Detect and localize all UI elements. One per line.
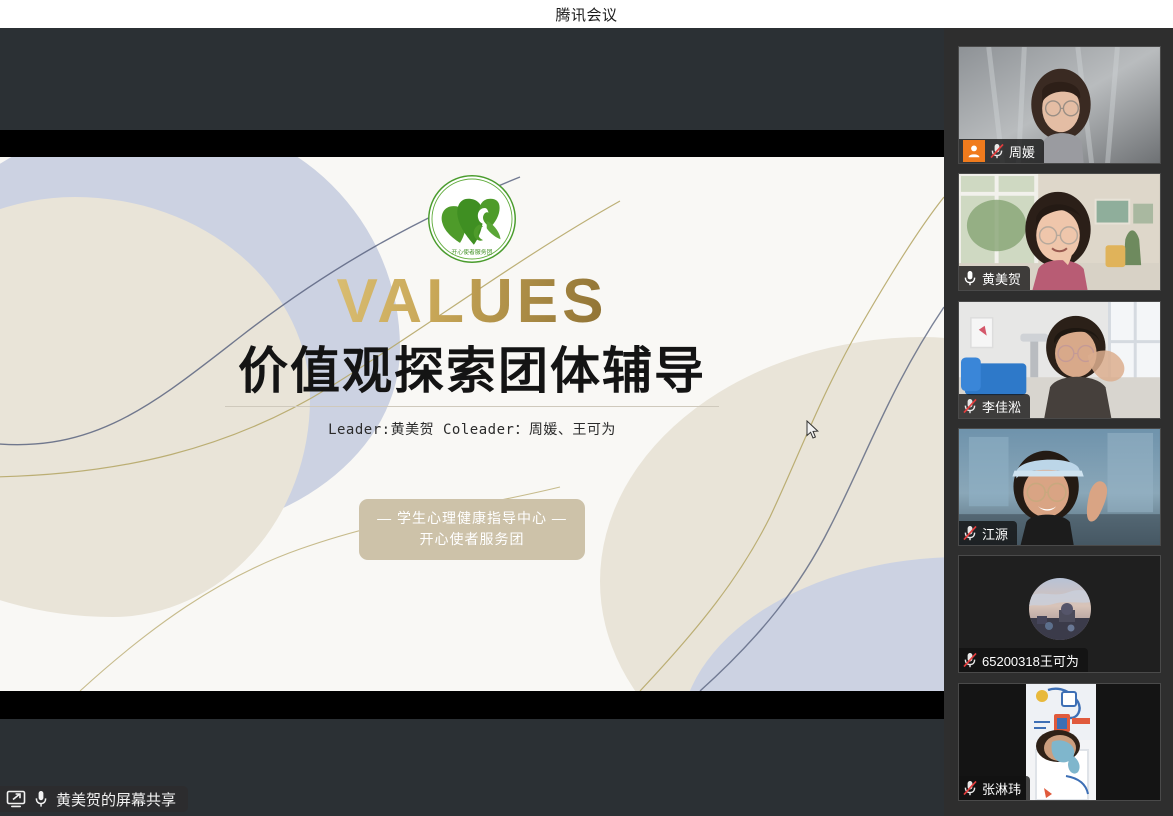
- participant-name-2: 李佳淞: [982, 397, 1021, 416]
- organization-badge-line1: — 学生心理健康指导中心 —: [377, 508, 567, 529]
- participant-strip-4: 65200318王可为: [959, 648, 1088, 672]
- screen-share-badge: 黄美贺的屏幕共享: [0, 786, 188, 812]
- participant-tile-2[interactable]: 李佳淞: [958, 301, 1161, 419]
- microphone-muted-icon: [963, 652, 977, 668]
- window-title: 腾讯会议: [555, 4, 617, 25]
- participant-tile-4[interactable]: 65200318王可为: [958, 555, 1161, 673]
- meeting-window: 腾讯会议: [0, 0, 1173, 816]
- letterbox-top: [0, 130, 944, 157]
- participant-name-3: 江源: [982, 524, 1008, 543]
- participant-name-5: 张淋玮: [982, 779, 1021, 798]
- participant-tile-0[interactable]: 周媛: [958, 46, 1161, 164]
- presentation-slide: 开心使者服务团 VALUES 价值观探索团体辅导 Leader:黄美贺 Cole…: [0, 157, 944, 691]
- organization-badge-line2: 开心使者服务团: [377, 529, 567, 550]
- participant-strip-1: 黄美贺: [959, 266, 1030, 290]
- slide-content: 开心使者服务团 VALUES 价值观探索团体辅导 Leader:黄美贺 Cole…: [0, 157, 944, 691]
- avatar: [1029, 578, 1091, 640]
- participant-strip-5: 张淋玮: [959, 776, 1030, 800]
- microphone-muted-icon: [963, 525, 977, 541]
- microphone-icon: [34, 790, 48, 808]
- slide-main-title: 价值观探索团体辅导: [238, 345, 706, 398]
- participant-strip-0: 周媛: [959, 139, 1044, 163]
- participant-strip-3: 江源: [959, 521, 1017, 545]
- participant-tile-5[interactable]: 张淋玮: [958, 683, 1161, 801]
- participant-strip-2: 李佳淞: [959, 394, 1030, 418]
- letterbox-bottom: [0, 691, 944, 719]
- participant-tile-1[interactable]: 黄美贺: [958, 173, 1161, 291]
- participant-video-portrait-5: [1026, 684, 1096, 801]
- participants-panel[interactable]: 周媛: [944, 28, 1173, 816]
- shared-screen-stage[interactable]: 开心使者服务团 VALUES 价值观探索团体辅导 Leader:黄美贺 Cole…: [0, 28, 944, 816]
- participant-name-0: 周媛: [1009, 142, 1035, 161]
- microphone-muted-icon: [963, 398, 977, 414]
- center-logo: 开心使者服务团: [426, 173, 518, 265]
- slide-values-heading: VALUES: [337, 271, 608, 333]
- title-divider: [225, 406, 719, 407]
- window-title-bar: 腾讯会议: [0, 0, 1173, 28]
- psychology-center-logo-icon: 开心使者服务团: [426, 173, 518, 265]
- screen-share-label: 黄美贺的屏幕共享: [56, 789, 176, 810]
- screen-share-icon: [6, 790, 26, 808]
- svg-text:开心使者服务团: 开心使者服务团: [451, 248, 492, 256]
- participant-name-1: 黄美贺: [982, 269, 1021, 288]
- person-icon: [963, 140, 985, 162]
- microphone-icon: [963, 270, 977, 286]
- organization-badge: — 学生心理健康指导中心 — 开心使者服务团: [359, 499, 585, 560]
- slide-subtitle: Leader:黄美贺 Coleader：周媛、王可为: [328, 419, 616, 439]
- mouse-cursor: [806, 420, 820, 440]
- microphone-muted-icon: [990, 143, 1004, 159]
- participant-name-4: 65200318王可为: [982, 651, 1079, 670]
- microphone-muted-icon: [963, 780, 977, 796]
- participant-tile-3[interactable]: 江源: [958, 428, 1161, 546]
